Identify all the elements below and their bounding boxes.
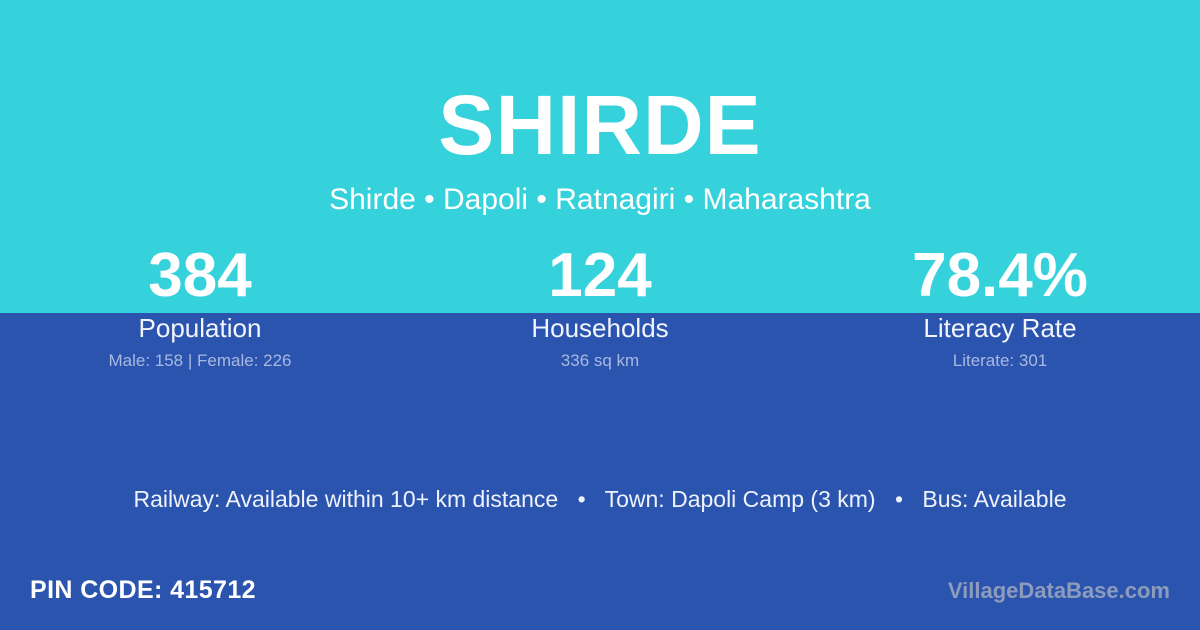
stat-subtext: 336 sq km — [400, 351, 800, 371]
pin-code: PIN CODE: 415712 — [30, 574, 256, 606]
stat-population: 384 Population Male: 158 | Female: 226 — [0, 244, 400, 384]
breadcrumb: Shirde • Dapoli • Ratnagiri • Maharashtr… — [0, 181, 1200, 219]
infra-railway: Railway: Available within 10+ km distanc… — [134, 486, 559, 512]
stats-row: 384 Population Male: 158 | Female: 226 1… — [0, 244, 1200, 384]
infrastructure-line: Railway: Available within 10+ km distanc… — [0, 482, 1200, 516]
site-brand: VillageDataBase.com — [948, 576, 1170, 606]
stat-label: Literacy Rate — [800, 313, 1200, 343]
page-title: SHIRDE — [0, 77, 1200, 173]
stat-label: Households — [400, 313, 800, 343]
stat-subtext: Male: 158 | Female: 226 — [0, 351, 400, 371]
infra-bus: Bus: Available — [922, 486, 1066, 512]
infra-town: Town: Dapoli Camp (3 km) — [605, 486, 876, 512]
stat-value: 78.4% — [800, 244, 1200, 308]
village-info-card: SHIRDE Shirde • Dapoli • Ratnagiri • Mah… — [0, 0, 1200, 630]
stat-value: 384 — [0, 244, 400, 308]
stat-subtext: Literate: 301 — [800, 351, 1200, 371]
stat-value: 124 — [400, 244, 800, 308]
stat-households: 124 Households 336 sq km — [400, 244, 800, 384]
bullet-separator-icon: • — [565, 482, 599, 516]
stat-label: Population — [0, 313, 400, 343]
bullet-separator-icon: • — [882, 482, 916, 516]
stat-literacy-rate: 78.4% Literacy Rate Literate: 301 — [800, 244, 1200, 384]
